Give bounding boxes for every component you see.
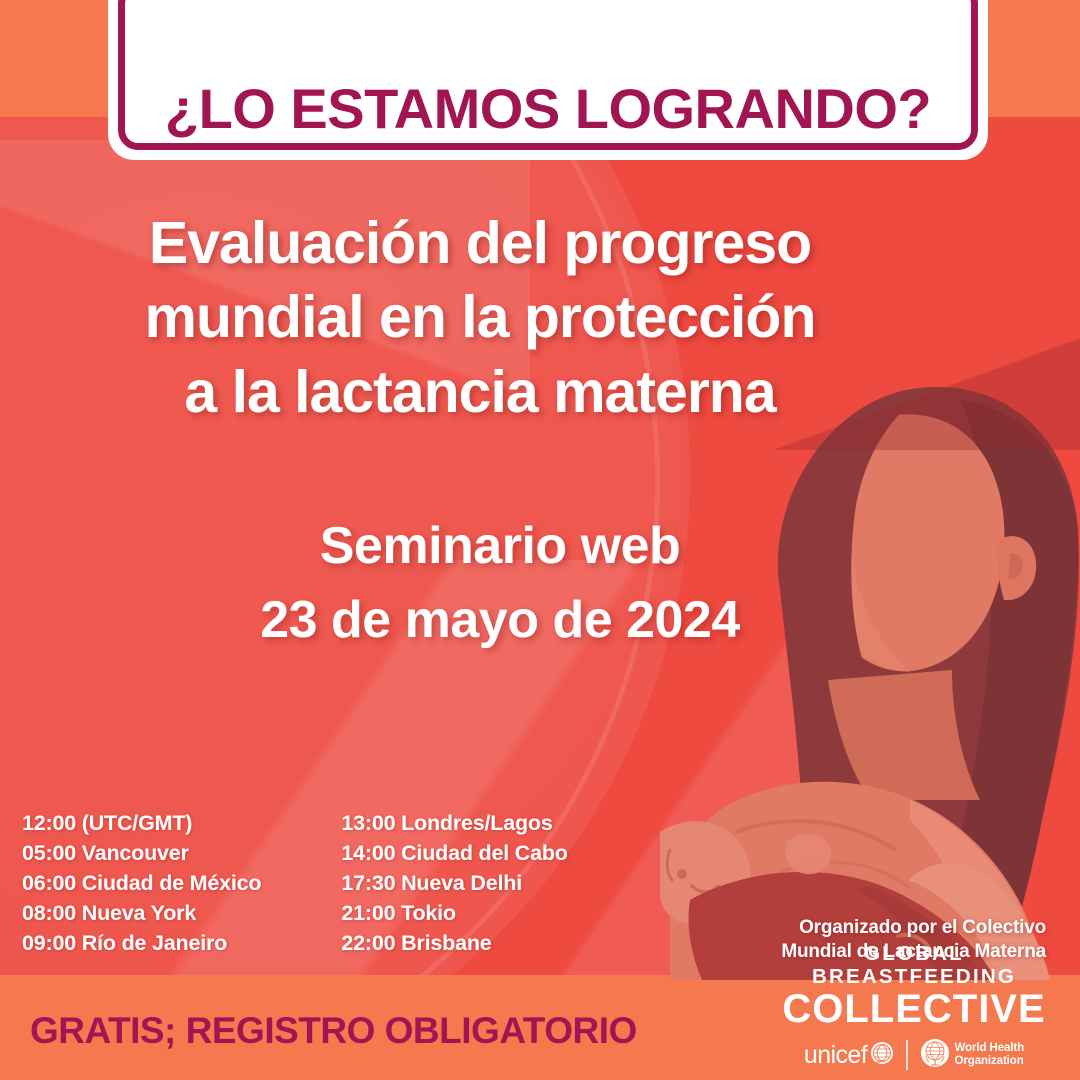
breastfeeding-illustration [660,380,1080,980]
timezone-item: 05:00 Vancouver [22,838,261,868]
unicef-emblem-icon [870,1041,894,1070]
logo-divider [906,1040,908,1070]
timezone-item: 21:00 Tokio [341,898,567,928]
who-emblem-icon [920,1038,950,1073]
timezone-column-left: 12:00 (UTC/GMT) 05:00 Vancouver 06:00 Ci… [22,808,261,958]
timezone-column-right: 13:00 Londres/Lagos 14:00 Ciudad del Cab… [341,808,567,958]
timezone-item: 08:00 Nueva York [22,898,261,928]
who-line-1: World Health [955,1042,1025,1054]
webinar-poster: ¿LO ESTAMOS LOGRANDO? Evaluación del pro… [0,0,1080,1080]
banner-title: ¿LO ESTAMOS LOGRANDO? [165,81,931,137]
timezone-item: 06:00 Ciudad de México [22,868,261,898]
timezone-item: 22:00 Brisbane [341,928,567,958]
page-title: Evaluación del progreso mundial en la pr… [0,206,960,429]
banner-inner-border: ¿LO ESTAMOS LOGRANDO? [118,0,978,150]
headline-line-3: a la lactancia materna [0,355,960,429]
registration-cta: GRATIS; REGISTRO OBLIGATORIO [30,1010,637,1052]
timezone-list: 12:00 (UTC/GMT) 05:00 Vancouver 06:00 Ci… [22,808,568,958]
timezone-item: 09:00 Río de Janeiro [22,928,261,958]
banner-card: ¿LO ESTAMOS LOGRANDO? [108,0,988,160]
timezone-item: 12:00 (UTC/GMT) [22,808,261,838]
who-line-2: Organization [955,1055,1024,1067]
who-logo: World Health Organization [920,1038,1025,1073]
timezone-item: 14:00 Ciudad del Cabo [341,838,567,868]
timezone-item: 13:00 Londres/Lagos [341,808,567,838]
unicef-wordmark: unicef [804,1043,867,1068]
partner-logos-row: unicef [764,1038,1064,1072]
timezone-item: 17:30 Nueva Delhi [341,868,567,898]
webinar-date-block: Seminario web 23 de mayo de 2024 [0,510,1000,658]
headline-line-1: Evaluación del progreso [0,206,960,280]
global-breastfeeding-collective-logo: GLOBAL BREASTFEEDING COLLECTIVE unicef [764,943,1064,1072]
headline-line-2: mundial en la protección [0,280,960,354]
webinar-date: 23 de mayo de 2024 [0,584,1000,658]
who-wordmark: World Health Organization [955,1042,1025,1068]
webinar-label: Seminario web [0,510,1000,584]
logo-line-global-breastfeeding: GLOBAL BREASTFEEDING [764,943,1064,988]
unicef-logo: unicef [804,1041,894,1070]
logo-line-collective: COLLECTIVE [764,989,1064,1030]
organizer-line-1: Organizado por el Colectivo [781,916,1046,940]
